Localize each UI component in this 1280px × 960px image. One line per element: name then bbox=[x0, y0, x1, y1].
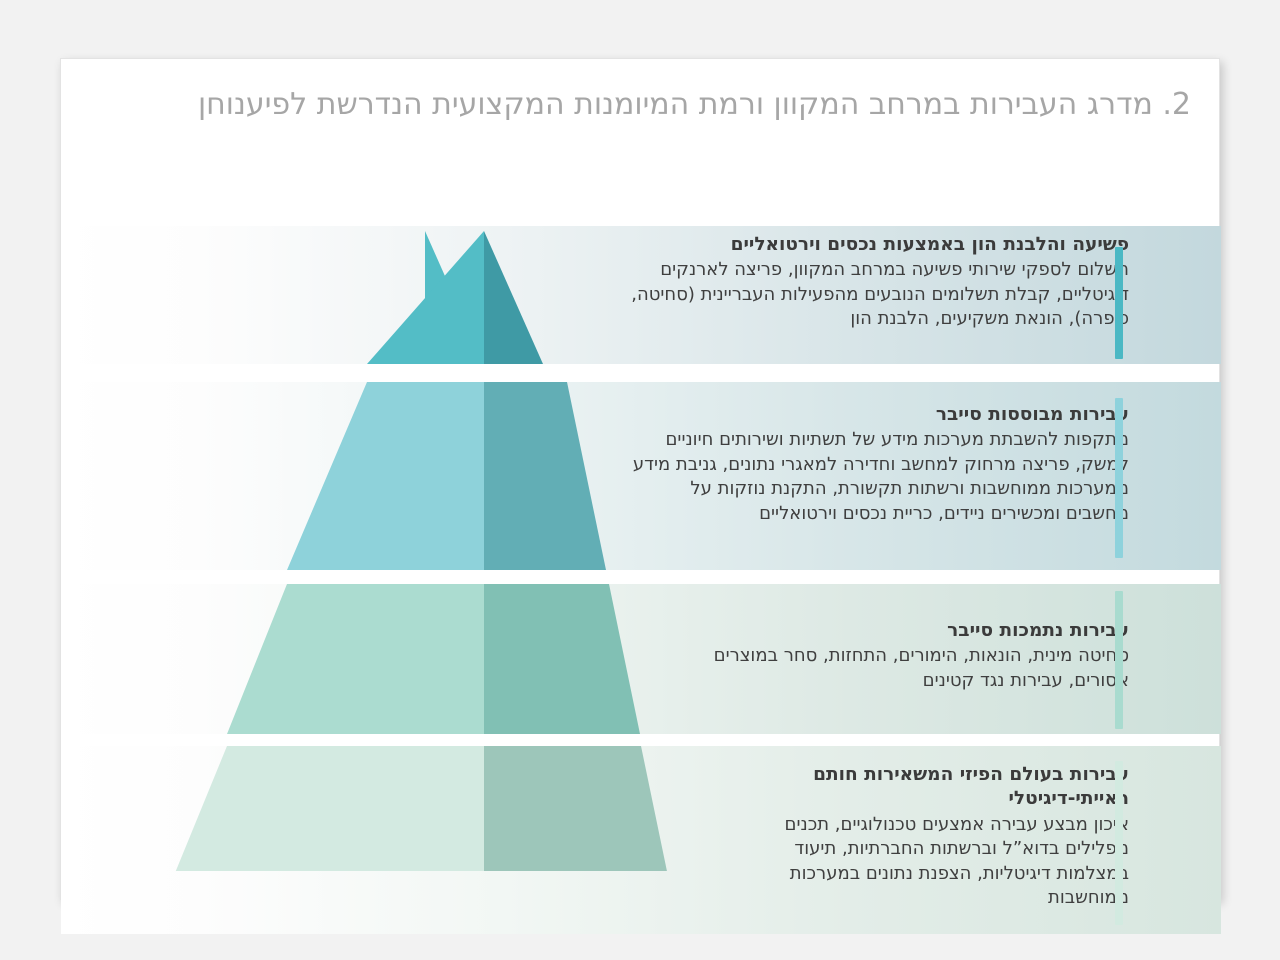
tier-3-accent-bar bbox=[1115, 591, 1123, 729]
tier-4-text: עבירות בעולם הפיזי המשאירות חותם ראייתי-… bbox=[729, 763, 1129, 911]
tier-3-text: עבירות נתמכות סייבר סחיטה מינית, הונאות,… bbox=[704, 619, 1129, 693]
tier-2-heading: עבירות מבוססות סייבר bbox=[629, 403, 1129, 427]
tier-4-body: איכון מבצע עבירה אמצעים טכנולוגיים, תכני… bbox=[729, 813, 1129, 911]
tier-1-body: תשלום לספקי שירותי פשיעה במרחב המקוון, פ… bbox=[604, 258, 1129, 331]
tier-1-accent-bar bbox=[1115, 247, 1123, 359]
tier-2-accent-bar bbox=[1115, 398, 1123, 558]
page-title: 2. מדרג העבירות במרחב המקוון ורמת המיומנ… bbox=[89, 87, 1191, 122]
pyramid-chart: פשיעה והלבנת הון באמצעות נכסים וירטואליי… bbox=[61, 171, 1221, 871]
tier-3-body: סחיטה מינית, הונאות, הימורים, התחזות, סח… bbox=[704, 644, 1129, 693]
tier-1-heading: פשיעה והלבנת הון באמצעות נכסים וירטואליי… bbox=[604, 233, 1129, 257]
tier-2-text: עבירות מבוססות סייבר מתקפות להשבתת מערכו… bbox=[629, 403, 1129, 526]
tier-3-heading: עבירות נתמכות סייבר bbox=[704, 619, 1129, 643]
tier-4-accent-bar bbox=[1115, 761, 1123, 925]
tier-1-text: פשיעה והלבנת הון באמצעות נכסים וירטואליי… bbox=[604, 233, 1129, 332]
tier-4-heading: עבירות בעולם הפיזי המשאירות חותם ראייתי-… bbox=[729, 763, 1129, 812]
infographic-card: 2. מדרג העבירות במרחב המקוון ורמת המיומנ… bbox=[60, 58, 1220, 900]
tier-2-body: מתקפות להשבתת מערכות מידע של תשתיות ושיר… bbox=[629, 428, 1129, 526]
